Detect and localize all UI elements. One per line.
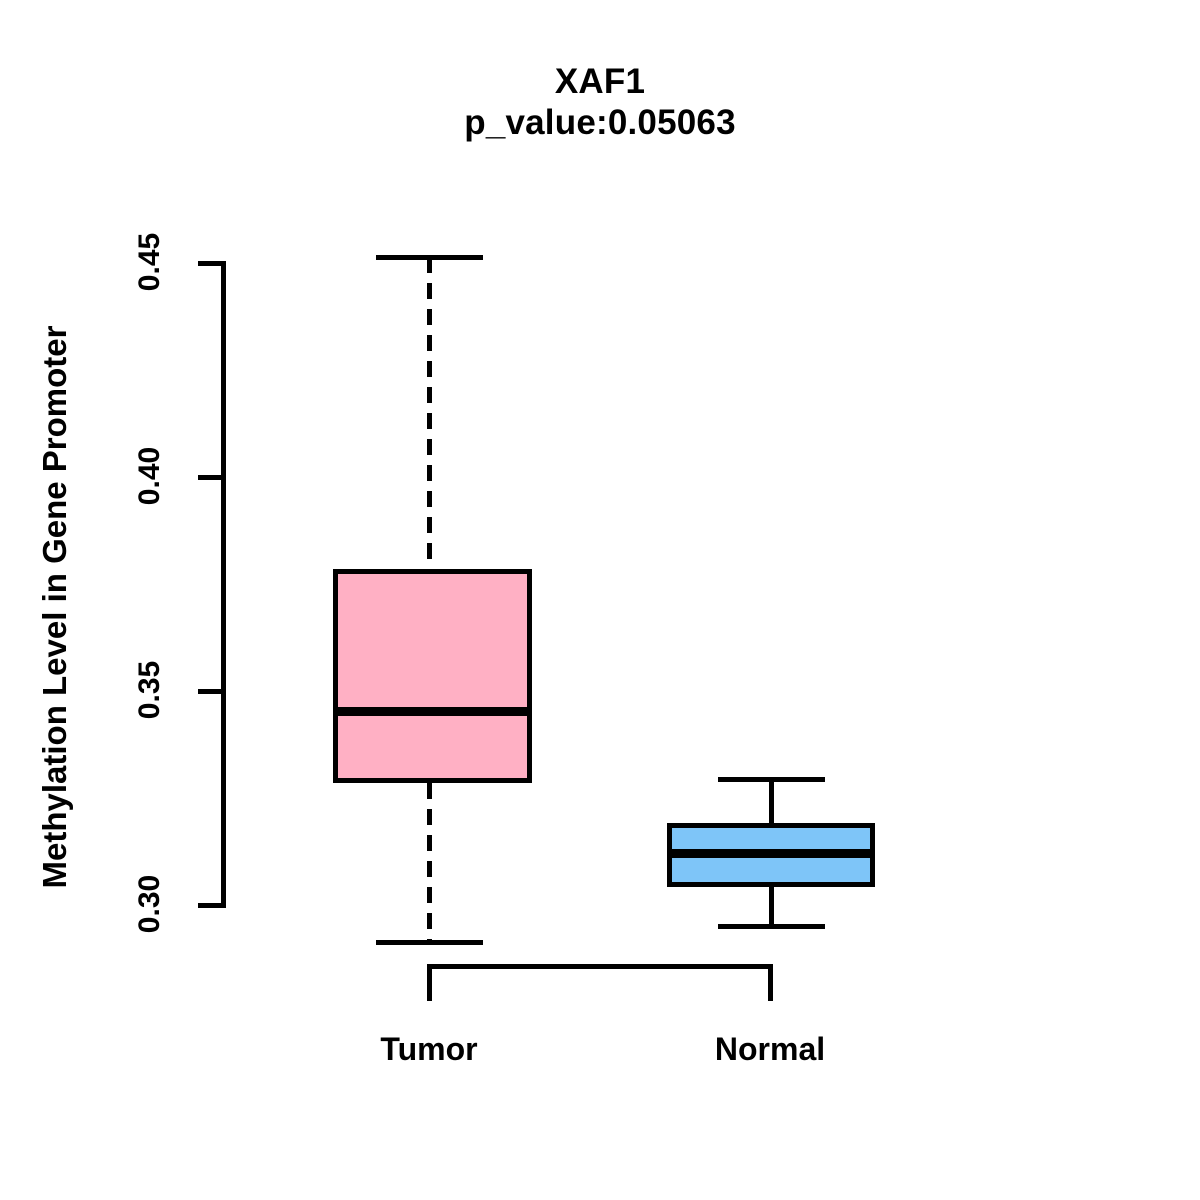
x-axis-tick-tumor <box>427 964 432 1001</box>
y-tick-mark-0.45 <box>198 261 226 266</box>
x-tick-label-normal: Normal <box>620 1031 920 1068</box>
tumor-upper-whisker-cap <box>376 255 483 260</box>
normal-upper-whisker-line <box>769 779 774 823</box>
tumor-upper-whisker-line <box>427 257 432 569</box>
y-tick-mark-0.30 <box>198 903 226 908</box>
x-axis-tick-normal <box>768 964 773 1001</box>
normal-lower-whisker-cap <box>718 924 825 929</box>
y-tick-mark-0.35 <box>198 689 226 694</box>
tumor-lower-whisker-cap <box>376 940 483 945</box>
normal-median-line <box>667 849 875 858</box>
y-tick-label-0.45: 0.45 <box>133 202 167 322</box>
y-tick-mark-0.40 <box>198 475 226 480</box>
boxplot-figure: XAF1 p_value:0.05063 Methylation Level i… <box>0 0 1200 1200</box>
title-block: XAF1 p_value:0.05063 <box>0 62 1200 143</box>
y-tick-label-0.30: 0.30 <box>133 844 167 964</box>
normal-upper-whisker-cap <box>718 777 825 782</box>
x-tick-label-tumor: Tumor <box>279 1031 579 1068</box>
tumor-box <box>333 569 532 783</box>
page-title: XAF1 <box>0 62 1200 103</box>
p-value-subtitle: p_value:0.05063 <box>0 103 1200 144</box>
x-axis-line <box>427 964 773 969</box>
normal-lower-whisker-line <box>769 887 774 926</box>
y-tick-label-0.40: 0.40 <box>133 416 167 536</box>
y-tick-label-0.35: 0.35 <box>133 630 167 750</box>
tumor-median-line <box>333 707 532 716</box>
y-axis-line <box>221 261 226 908</box>
y-axis-label: Methylation Level in Gene Promoter <box>36 197 74 1017</box>
tumor-lower-whisker-line <box>427 783 432 942</box>
